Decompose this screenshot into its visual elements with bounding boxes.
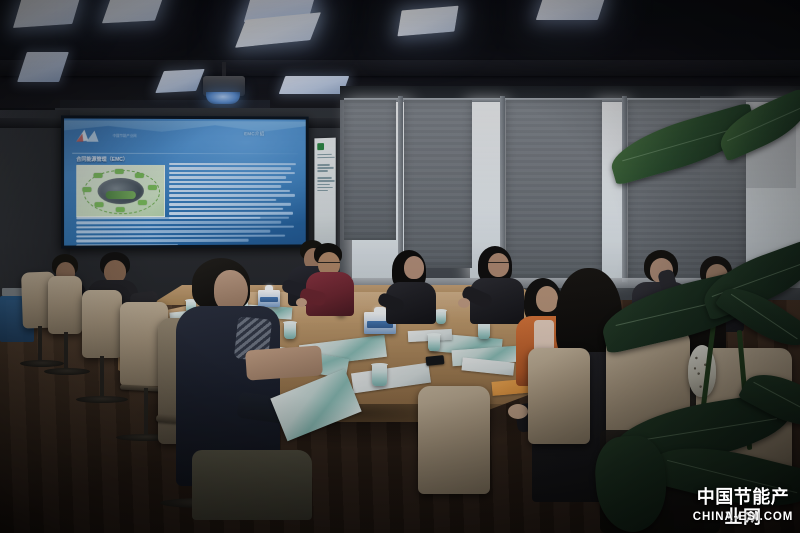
ceiling-light	[279, 76, 350, 94]
tissue-box-label	[260, 297, 278, 302]
diagram-node	[116, 207, 125, 212]
office-chair[interactable]	[48, 276, 82, 334]
emc-cycle-diagram	[76, 165, 165, 217]
paper-cup[interactable]	[428, 334, 440, 351]
ceiling-light	[536, 0, 606, 20]
window-mullion	[398, 96, 403, 276]
ceiling-light	[13, 0, 81, 28]
slide-logo-icon	[74, 128, 108, 148]
paper-cup[interactable]	[372, 364, 387, 386]
diagram-node	[138, 200, 147, 205]
poster-logo-icon	[317, 143, 324, 150]
window-blind[interactable]	[506, 100, 602, 280]
diagram-node	[115, 169, 124, 174]
head	[536, 286, 558, 312]
chair-post	[144, 388, 148, 438]
head	[404, 256, 424, 279]
hand	[458, 298, 470, 308]
slide-divider	[72, 153, 298, 154]
hand	[508, 404, 528, 419]
chair-base	[20, 360, 64, 367]
hand	[296, 298, 307, 307]
office-chair[interactable]	[418, 386, 490, 494]
slide-footer-text	[76, 217, 296, 246]
paper-cup[interactable]	[436, 310, 446, 324]
chair-post	[38, 326, 42, 364]
slide-header-right: EMC介绍	[244, 131, 264, 137]
diagram-node	[82, 187, 91, 192]
ceiling-beam	[0, 60, 800, 76]
arm	[245, 345, 323, 380]
diagram-core	[98, 178, 144, 204]
chair-base	[44, 368, 90, 375]
slide-title: 合同能源管理（EMC）	[76, 156, 128, 163]
glasses-icon	[318, 262, 340, 268]
diagram-node	[135, 173, 144, 178]
office-chair[interactable]	[528, 348, 590, 444]
diagram-node	[95, 202, 104, 207]
chair-base	[76, 396, 128, 403]
tissue-box[interactable]	[258, 290, 280, 307]
diagram-node	[148, 185, 157, 190]
window-blind[interactable]	[344, 100, 396, 240]
paper-cup[interactable]	[284, 322, 296, 339]
chair-post	[100, 356, 104, 400]
paper-cup[interactable]	[478, 322, 490, 339]
projection-screen: 中国节能产业网 EMC介绍 合同能源管理（EMC）	[61, 115, 309, 248]
glasses-icon	[486, 262, 510, 268]
diagram-node	[93, 173, 102, 178]
phone[interactable]	[426, 355, 445, 366]
ceiling-light	[397, 6, 458, 37]
slide-body-text	[169, 163, 296, 221]
legs	[192, 450, 312, 520]
wall-poster	[314, 138, 335, 247]
window-mullion	[622, 96, 627, 282]
projector-lens-icon	[206, 92, 240, 104]
office-chair[interactable]	[82, 290, 122, 358]
window-blind[interactable]	[404, 100, 472, 268]
conference-room-photo: 中国节能产业网 EMC介绍 合同能源管理（EMC）	[0, 0, 800, 533]
chair-post	[64, 332, 68, 372]
slide-header-left: 中国节能产业网	[113, 133, 137, 138]
slide-surface: 中国节能产业网 EMC介绍 合同能源管理（EMC）	[64, 118, 306, 245]
